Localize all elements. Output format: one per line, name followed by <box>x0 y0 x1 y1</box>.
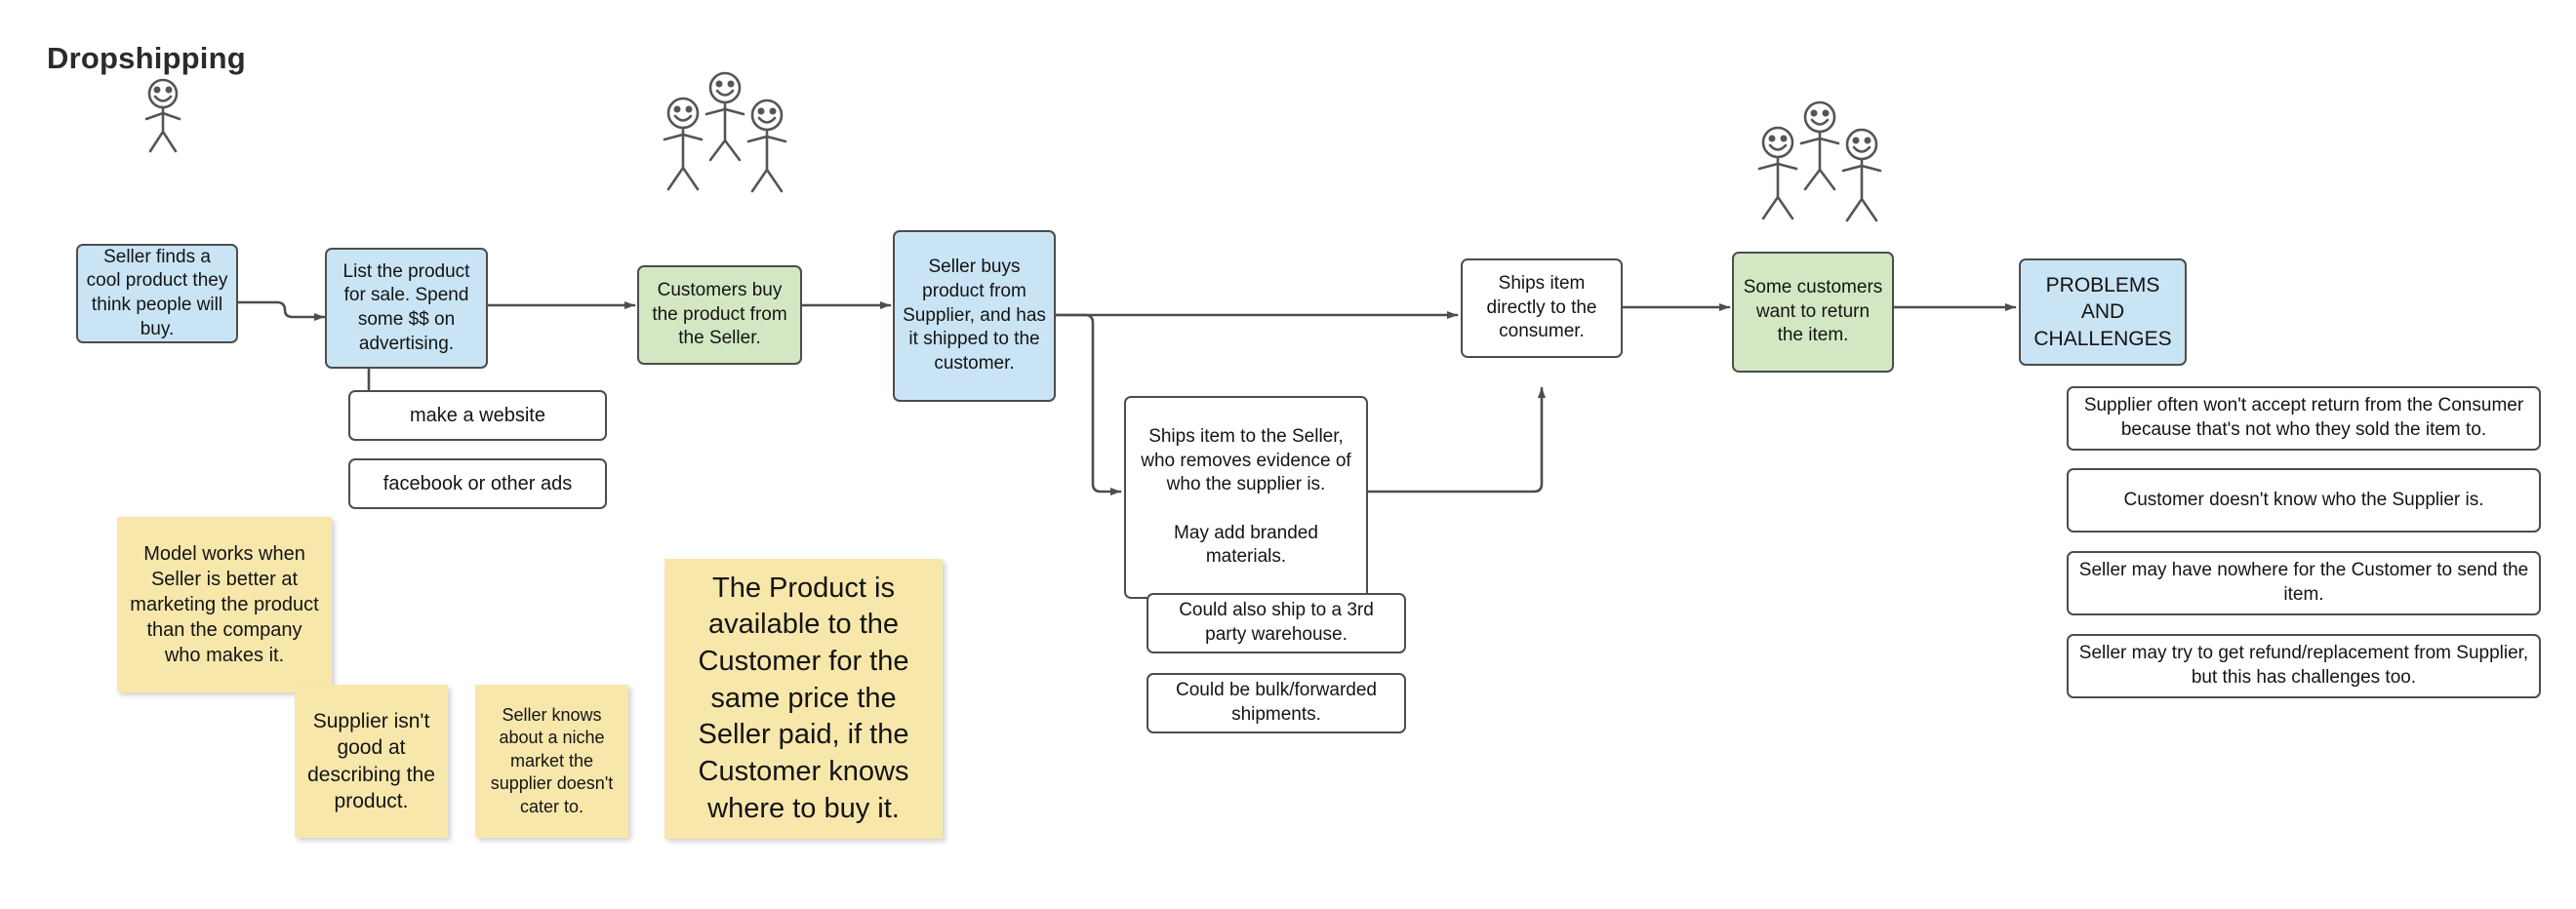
node-list-product[interactable]: List the product for sale. Spend some $$… <box>325 248 488 369</box>
node-seller-finds-product[interactable]: Seller finds a cool product they think p… <box>76 244 238 343</box>
sticky-note-seller-niche[interactable]: Seller knows about a niche market the su… <box>475 685 628 838</box>
stick-figure-group-returners-icon <box>1747 99 1893 228</box>
diagram-canvas: Dropshipping <box>0 0 2576 909</box>
node-ships-to-seller[interactable]: Ships item to the Seller, who removes ev… <box>1124 396 1368 599</box>
sticky-note-supplier-describing[interactable]: Supplier isn't good at describing the pr… <box>295 685 448 838</box>
challenge-item[interactable]: Seller may have nowhere for the Customer… <box>2067 551 2541 615</box>
arrow-sellerbuys-to-shipsseller <box>1056 315 1120 492</box>
challenge-item[interactable]: Seller may try to get refund/replacement… <box>2067 634 2541 698</box>
node-third-party-warehouse[interactable]: Could also ship to a 3rd party warehouse… <box>1147 593 1406 653</box>
challenge-item[interactable]: Customer doesn't know who the Supplier i… <box>2067 468 2541 533</box>
node-bulk-forwarded-shipments[interactable]: Could be bulk/forwarded shipments. <box>1147 673 1406 733</box>
challenge-item[interactable]: Supplier often won't accept return from … <box>2067 386 2541 451</box>
arrow-seller-to-list <box>238 302 324 317</box>
stick-figure-group-icon <box>652 70 798 199</box>
arrow-shipsseller-to-shipsdirect <box>1368 388 1542 492</box>
sticky-note-same-price[interactable]: The Product is available to the Customer… <box>664 559 943 839</box>
node-seller-buys-from-supplier[interactable]: Seller buys product from Supplier, and h… <box>893 230 1056 402</box>
node-problems-and-challenges[interactable]: PROBLEMS AND CHALLENGES <box>2019 258 2187 366</box>
node-customers-buy[interactable]: Customers buy the product from the Selle… <box>637 265 802 365</box>
node-make-a-website[interactable]: make a website <box>348 390 607 441</box>
node-facebook-ads[interactable]: facebook or other ads <box>348 458 607 509</box>
node-ships-directly-to-consumer[interactable]: Ships item directly to the consumer. <box>1461 258 1623 358</box>
stick-figure-single-icon <box>119 78 207 154</box>
sticky-note-model-works[interactable]: Model works when Seller is better at mar… <box>117 517 332 692</box>
page-title: Dropshipping <box>47 41 246 76</box>
node-some-customers-return[interactable]: Some customers want to return the item. <box>1732 252 1894 373</box>
